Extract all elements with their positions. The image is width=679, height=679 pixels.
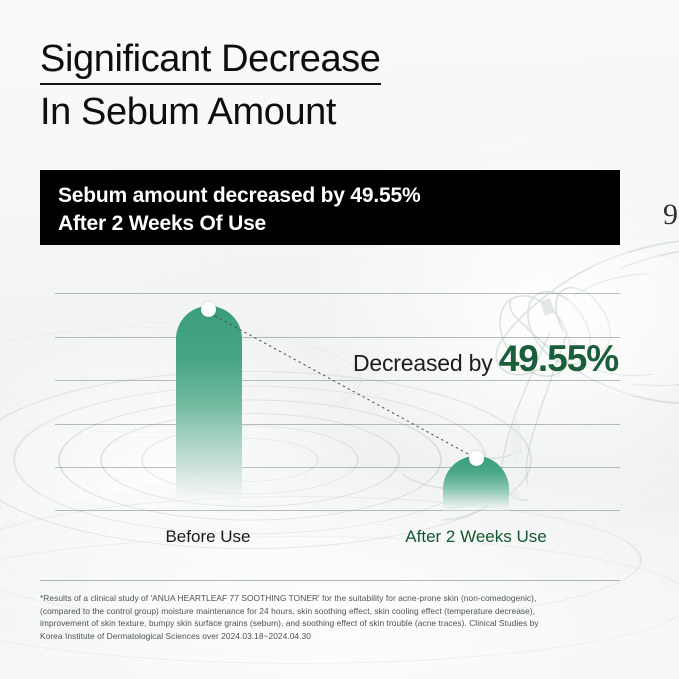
chart-gridline xyxy=(55,510,620,511)
page-title: Significant Decrease In Sebum Amount xyxy=(40,36,381,135)
footnote-line-2: (compared to the control group) moisture… xyxy=(40,605,630,618)
x-axis-label-before-use: Before Use xyxy=(128,526,288,548)
x-axis-label-after-use: After 2 Weeks Use xyxy=(386,526,566,548)
chart-gridline xyxy=(55,293,620,294)
footnote: *Results of a clinical study of 'ANUA HE… xyxy=(40,592,630,642)
result-banner: Sebum amount decreased by 49.55% After 2… xyxy=(40,170,620,245)
page-title-line2: In Sebum Amount xyxy=(40,89,381,135)
decrease-callout-percent: 49.55% xyxy=(499,338,619,379)
result-banner-line1: Sebum amount decreased by 49.55% xyxy=(58,182,620,210)
footnote-line-4: Korea Institute of Dermatological Scienc… xyxy=(40,630,630,643)
decrease-callout-label: Decreased by xyxy=(353,350,499,376)
chart-gridline xyxy=(55,467,620,468)
bar-before-use-marker xyxy=(201,302,216,317)
chart-gridline xyxy=(55,380,620,381)
infographic-page: 9 Significant Decrease In Sebum Amount S… xyxy=(0,0,679,679)
result-banner-prefix: Sebum amount decreased by xyxy=(58,184,350,207)
bar-before-use xyxy=(176,306,242,512)
bar-after-use-marker xyxy=(469,451,484,466)
chart-gridline xyxy=(55,424,620,425)
result-banner-percent: 49.55% xyxy=(350,184,420,207)
footnote-line-3: improvement of skin texture, bumpy skin … xyxy=(40,617,630,630)
footnote-divider xyxy=(40,580,620,581)
decrease-callout: Decreased by 49.55% xyxy=(353,338,618,380)
page-title-line1: Significant Decrease xyxy=(40,36,381,85)
footnote-line-1: *Results of a clinical study of 'ANUA HE… xyxy=(40,592,630,605)
bar-before-use-fill xyxy=(176,306,242,512)
result-banner-line2: After 2 Weeks Of Use xyxy=(58,210,620,238)
